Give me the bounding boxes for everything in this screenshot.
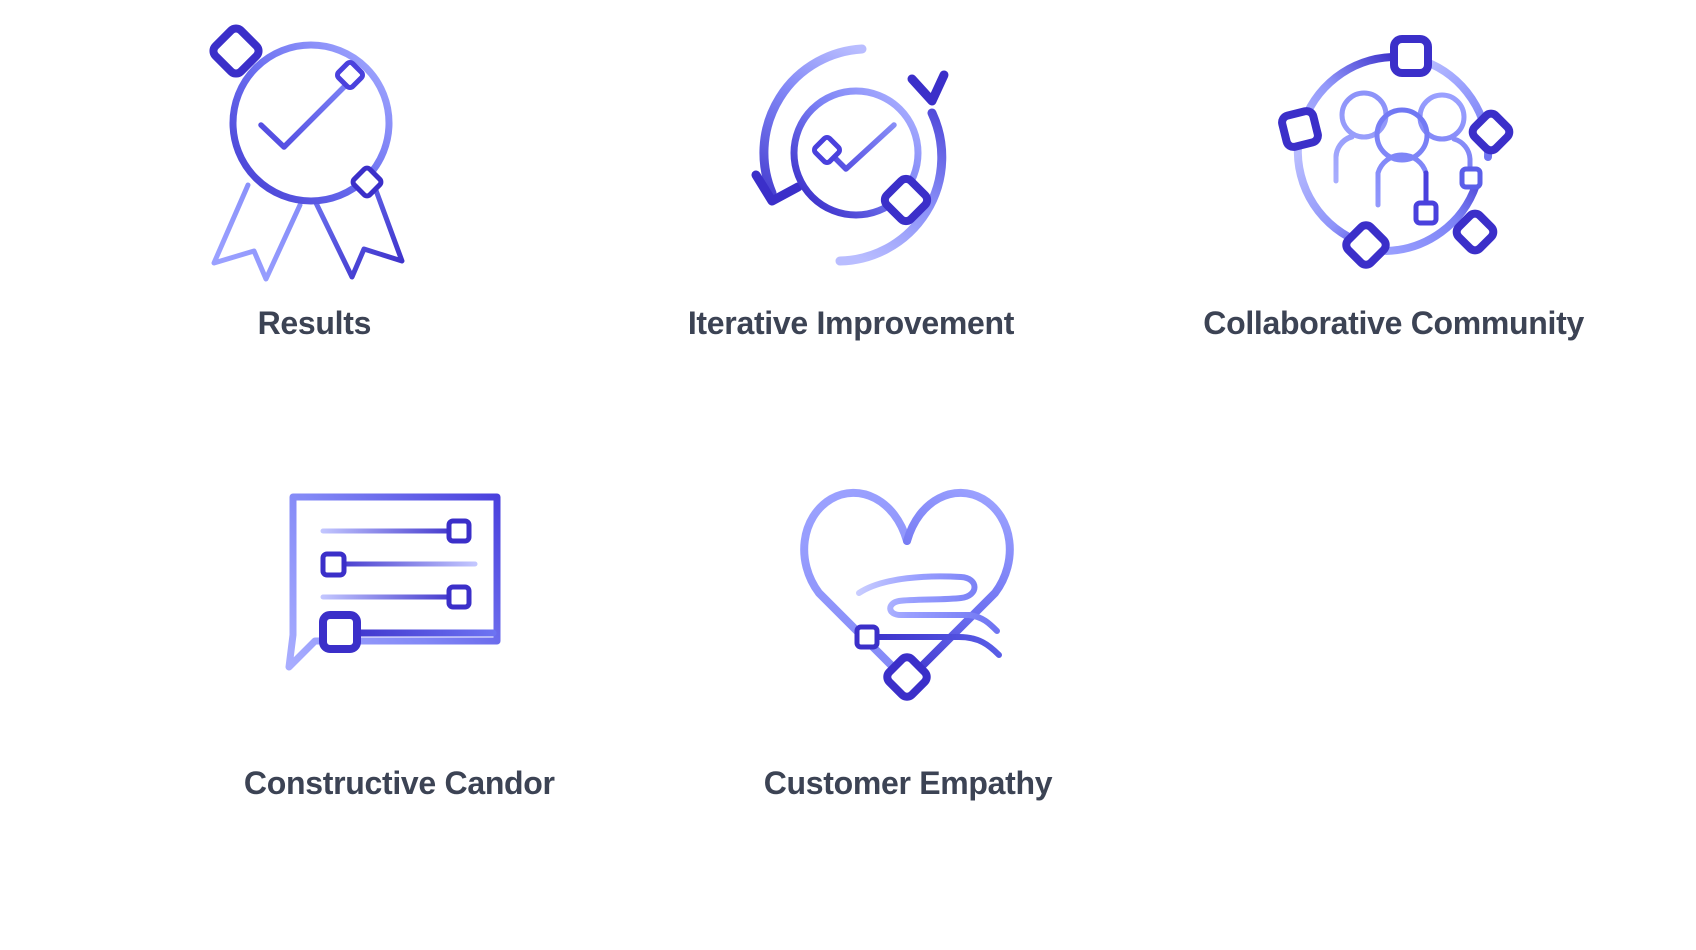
value-label-customer-empathy: Customer Empathy xyxy=(764,766,1053,801)
circular-arrows-checkmark-icon xyxy=(721,30,981,280)
value-label-results: Results xyxy=(258,306,372,341)
heart-hand-icon xyxy=(778,460,1038,710)
values-row-bottom: Constructive Candor xyxy=(40,460,1656,910)
values-grid: Results xyxy=(0,0,1696,950)
award-ribbon-checkmark-icon xyxy=(184,30,444,280)
value-card-results: Results xyxy=(40,30,579,460)
value-card-iterative-improvement: Iterative Improvement xyxy=(579,30,1118,460)
value-label-constructive-candor: Constructive Candor xyxy=(244,766,555,801)
speech-bubble-sliders-icon xyxy=(269,460,529,710)
people-network-circle-icon xyxy=(1264,30,1524,280)
value-label-collaborative-community: Collaborative Community xyxy=(1203,306,1584,341)
values-row-top: Results xyxy=(40,30,1656,460)
value-card-collaborative-community: Collaborative Community xyxy=(1117,30,1656,460)
value-label-iterative-improvement: Iterative Improvement xyxy=(688,306,1014,341)
value-card-constructive-candor: Constructive Candor xyxy=(40,460,579,910)
value-card-customer-empathy: Customer Empathy xyxy=(579,460,1118,910)
